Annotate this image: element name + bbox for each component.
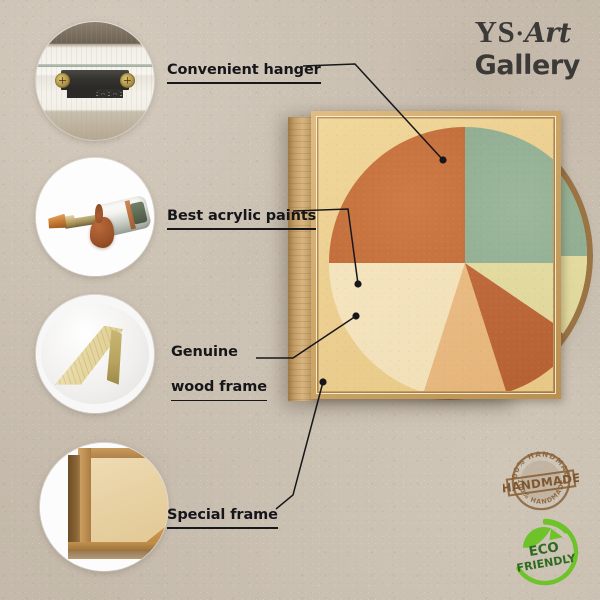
leader-line-genuine-wood-frame xyxy=(256,316,356,358)
handmade-badge-graphic: 100% HANDMADE 100% HANDMADE HANDMADE xyxy=(503,443,579,519)
annotation-underline-genuine-wood-frame xyxy=(171,400,267,402)
handmade-badge: 100% HANDMADE 100% HANDMADE HANDMADE xyxy=(503,443,579,519)
product-infographic: YS·Art Gallery xyxy=(0,0,600,600)
annotation-convenient-hanger: Convenient hanger xyxy=(167,44,321,102)
annotation-underline-acrylic-paints xyxy=(167,228,316,230)
annotation-underline-special-frame xyxy=(167,527,278,529)
leader-dot-acrylic-paints xyxy=(354,280,361,287)
annotation-underline-convenient-hanger xyxy=(167,82,321,84)
annotation-acrylic-paints: Best acrylic paints xyxy=(167,190,316,248)
annotation-label-special-frame: Special frame xyxy=(167,507,278,523)
annotation-label-acrylic-paints: Best acrylic paints xyxy=(167,208,316,224)
leader-line-special-frame xyxy=(276,382,323,509)
eco-friendly-badge: ECO FRIENDLY xyxy=(508,515,582,589)
leader-dot-special-frame xyxy=(319,378,326,385)
annotation-label-genuine-wood-frame-line1: Genuine xyxy=(171,344,238,360)
annotation-special-frame: Special frame xyxy=(167,489,278,547)
annotation-label-genuine-wood-frame-line2: wood frame xyxy=(171,379,267,395)
eco-badge-arrow-head xyxy=(549,528,562,540)
annotation-label-convenient-hanger: Convenient hanger xyxy=(167,62,321,78)
leader-dot-genuine-wood-frame xyxy=(352,312,359,319)
eco-friendly-badge-graphic: ECO FRIENDLY xyxy=(508,515,582,589)
leader-line-convenient-hanger xyxy=(303,64,443,160)
annotation-genuine-wood-frame: Genuine wood frame xyxy=(171,326,267,419)
eco-badge-text: ECO FRIENDLY xyxy=(513,537,577,574)
leader-dot-convenient-hanger xyxy=(439,156,446,163)
